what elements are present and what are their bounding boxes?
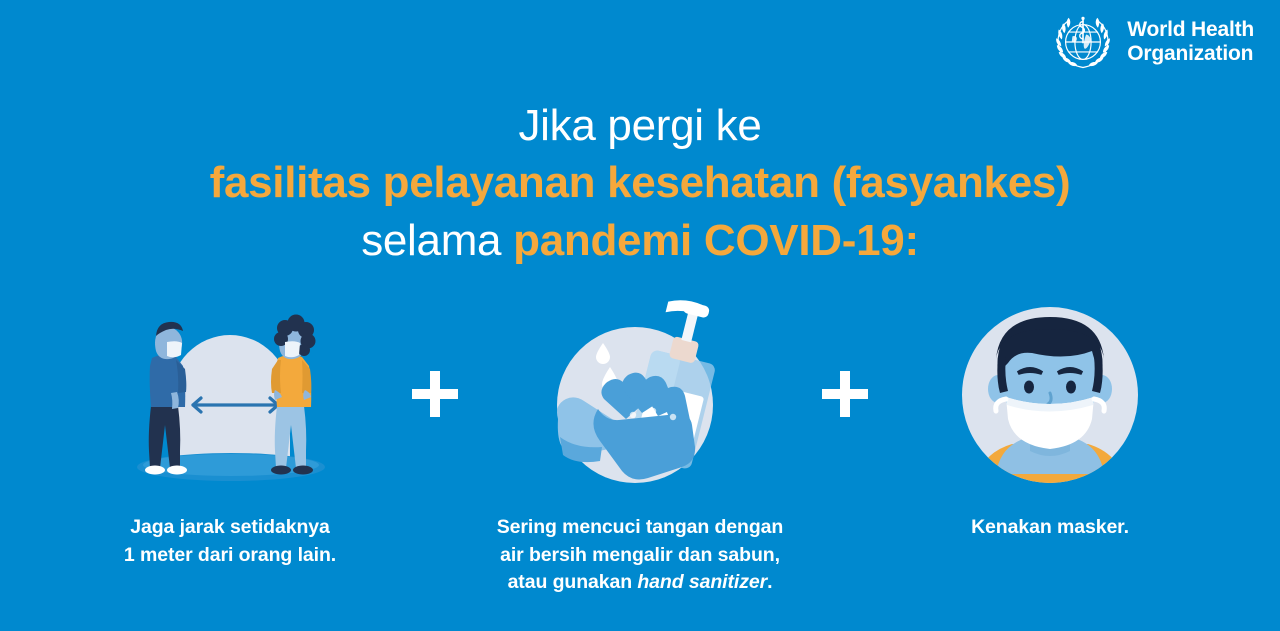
handwashing-sanitizer-icon	[540, 297, 740, 492]
who-wordmark-line2: Organization	[1127, 42, 1254, 66]
person-right	[271, 314, 316, 474]
face-mask-person-icon	[962, 297, 1138, 492]
panel-physical-distancing: Jaga jarak setidaknya 1 meter dari orang…	[62, 296, 398, 569]
who-wordmark: World Health Organization	[1127, 18, 1254, 65]
headline-line-3-plain: selama	[361, 216, 513, 265]
plus-icon	[412, 371, 458, 417]
caption-handwashing-line3-italic: hand sanitizer	[637, 571, 767, 593]
caption-handwashing-line3: atau gunakan hand sanitizer.	[497, 569, 784, 597]
caption-distancing-line2: 1 meter dari orang lain.	[124, 542, 336, 570]
physical-distancing-icon	[115, 302, 345, 487]
panel-art-distancing	[115, 296, 345, 492]
headline-line-3-emphasis: pandemi COVID-19:	[513, 216, 919, 265]
headline-line-2: fasilitas pelayanan kesehatan (fasyankes…	[0, 154, 1280, 211]
separator-plus-1	[398, 296, 472, 492]
who-wordmark-line1: World Health	[1127, 18, 1254, 42]
panel-art-mask	[962, 296, 1138, 492]
caption-handwashing-line2: air bersih mengalir dan sabun,	[497, 542, 784, 570]
caption-handwashing-line3-end: .	[767, 571, 772, 593]
caption-handwashing-line1: Sering mencuci tangan dengan	[497, 514, 784, 542]
advice-panels: Jaga jarak setidaknya 1 meter dari orang…	[0, 296, 1280, 597]
caption-handwashing: Sering mencuci tangan dengan air bersih …	[497, 514, 784, 597]
caption-handwashing-line3-plain: atau gunakan	[508, 571, 638, 593]
separator-plus-2	[808, 296, 882, 492]
who-logo: World Health Organization	[1051, 14, 1254, 70]
caption-mask-line1: Kenakan masker.	[971, 514, 1129, 542]
caption-distancing-line1: Jaga jarak setidaknya	[124, 514, 336, 542]
panel-wear-mask: Kenakan masker.	[882, 296, 1218, 542]
panel-art-handwashing	[540, 296, 740, 492]
caption-physical-distancing: Jaga jarak setidaknya 1 meter dari orang…	[124, 514, 336, 569]
headline-line-3: selama pandemi COVID-19:	[0, 212, 1280, 269]
who-emblem-icon	[1051, 14, 1115, 70]
headline-line-1: Jika pergi ke	[0, 98, 1280, 154]
panel-handwashing: Sering mencuci tangan dengan air bersih …	[472, 296, 808, 597]
headline: Jika pergi ke fasilitas pelayanan keseha…	[0, 98, 1280, 269]
caption-wear-mask: Kenakan masker.	[971, 514, 1129, 542]
plus-icon	[822, 371, 868, 417]
